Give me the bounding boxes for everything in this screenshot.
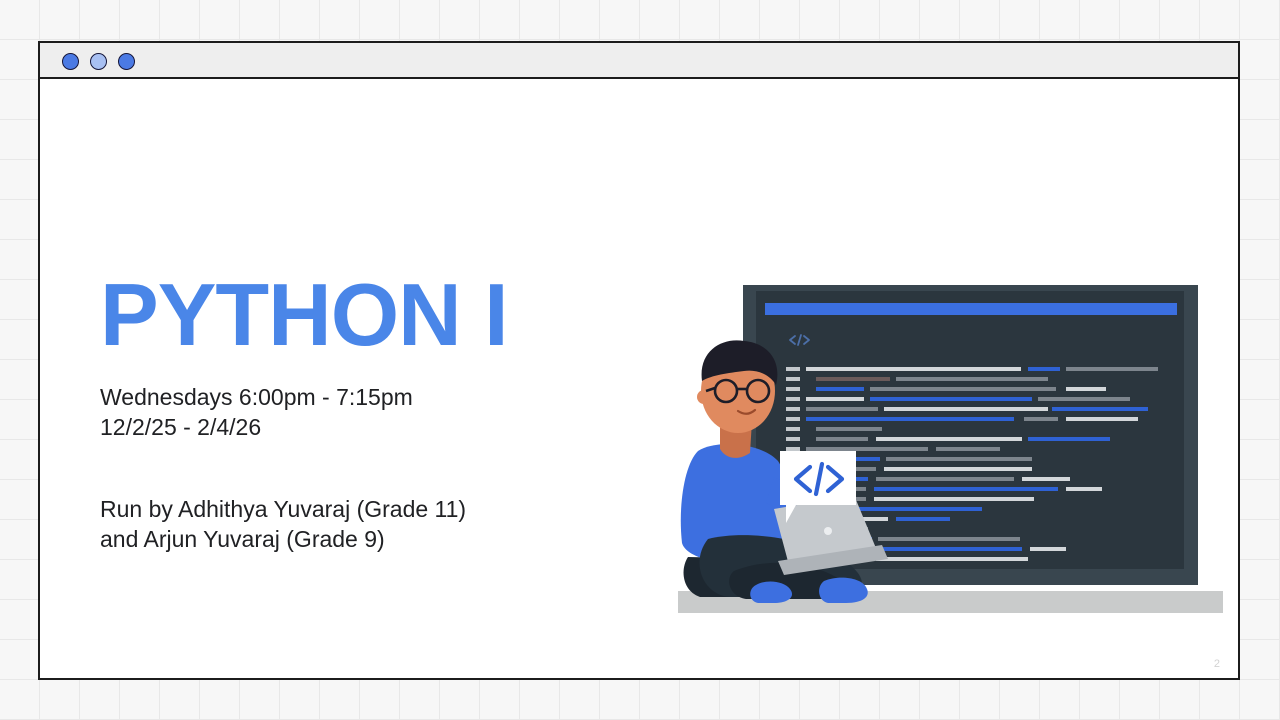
slide-window: PYTHON I Wednesdays 6:00pm - 7:15pm 12/2…: [38, 41, 1240, 680]
illustration-person-coding: [638, 239, 1228, 619]
page-number: 2: [1214, 658, 1220, 670]
schedule-time: Wednesdays 6:00pm - 7:15pm: [100, 382, 620, 412]
page-title: PYTHON I: [100, 275, 620, 356]
window-dot-1[interactable]: [62, 53, 79, 70]
laptop-logo: [824, 527, 832, 535]
person-ear: [697, 390, 711, 404]
window-title-bar: [40, 43, 1238, 79]
window-dot-3[interactable]: [118, 53, 135, 70]
instructor-line-2: and Arjun Yuvaraj (Grade 9): [100, 524, 620, 554]
schedule-block: Wednesdays 6:00pm - 7:15pm 12/2/25 - 2/4…: [100, 382, 620, 442]
schedule-dates: 12/2/25 - 2/4/26: [100, 412, 620, 442]
slide-canvas: PYTHON I Wednesdays 6:00pm - 7:15pm 12/2…: [40, 79, 1238, 678]
monitor-header-bar: [765, 303, 1177, 315]
window-dot-2[interactable]: [90, 53, 107, 70]
slide-text-block: PYTHON I Wednesdays 6:00pm - 7:15pm 12/2…: [100, 275, 620, 554]
instructor-line-1: Run by Adhithya Yuvaraj (Grade 11): [100, 494, 620, 524]
instructor-block: Run by Adhithya Yuvaraj (Grade 11) and A…: [100, 494, 620, 554]
